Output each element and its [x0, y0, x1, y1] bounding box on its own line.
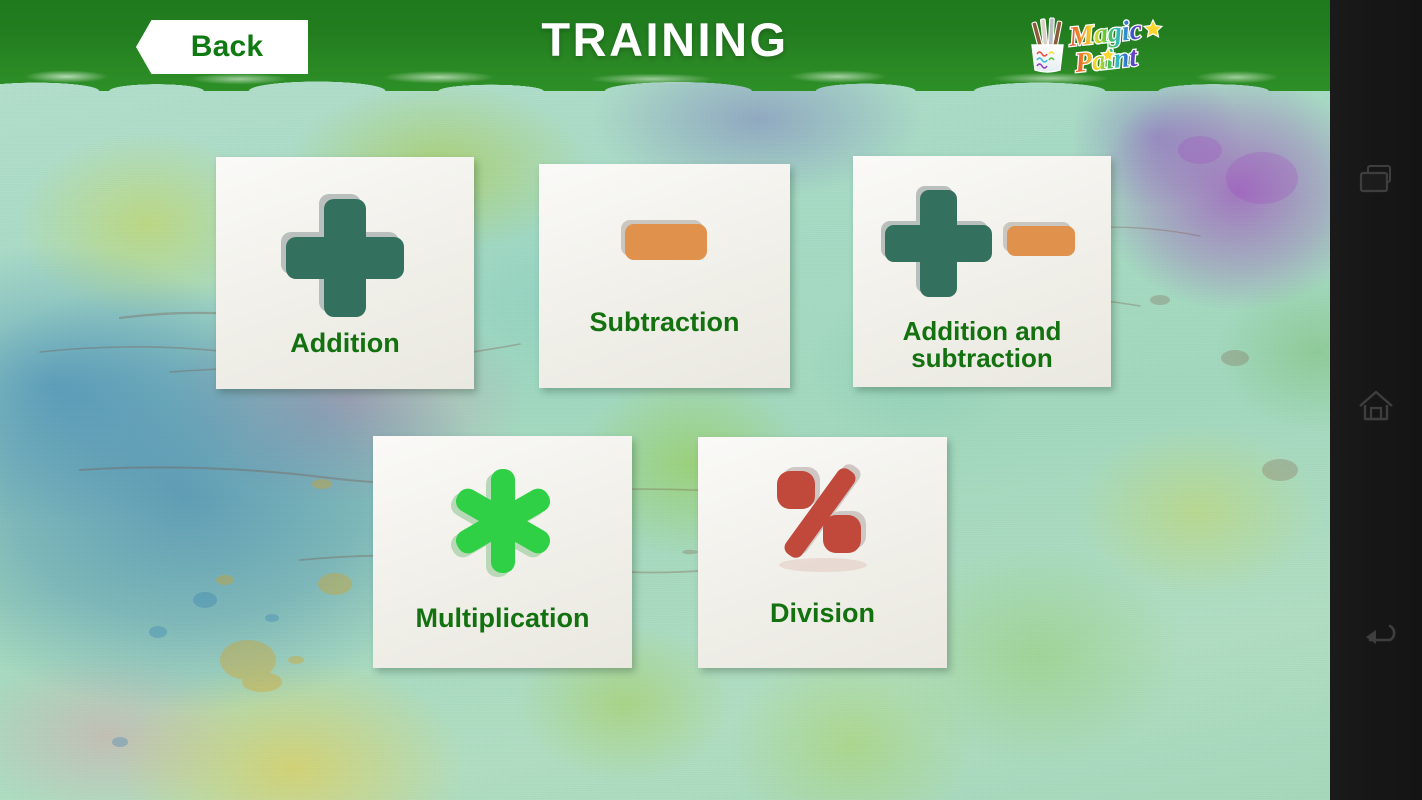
home-icon [1356, 386, 1396, 426]
card-addition-and-subtraction[interactable]: Addition and subtraction [853, 156, 1111, 387]
app-viewport: Back TRAINING [0, 0, 1330, 800]
plus-minus-icon [884, 182, 1080, 302]
card-division-label: Division [770, 599, 875, 627]
card-division[interactable]: Division [698, 437, 947, 668]
back-button-label: Back [181, 30, 264, 64]
app-header: Back TRAINING [0, 0, 1330, 93]
card-multiplication-label: Multiplication [416, 604, 590, 632]
plus-icon [282, 185, 408, 311]
card-subtraction[interactable]: Subtraction [539, 164, 790, 388]
card-addition-and-subtraction-label: Addition and subtraction [903, 318, 1062, 373]
nav-back-button[interactable] [1330, 593, 1422, 671]
magic-paint-logo: Magic Paint [1022, 12, 1178, 84]
nav-recents-button[interactable] [1330, 139, 1422, 217]
android-navigation-bar [1330, 0, 1422, 800]
recents-icon [1356, 158, 1396, 198]
card-addition-label: Addition [290, 329, 399, 357]
minus-glyph [1003, 222, 1075, 256]
minus-icon [619, 216, 711, 266]
label-line-1: Addition and [903, 316, 1062, 346]
paintbrush-cup-icon [1032, 18, 1063, 72]
card-addition[interactable]: Addition [216, 157, 474, 389]
card-multiplication[interactable]: Multiplication [373, 436, 632, 668]
back-button[interactable]: Back [136, 20, 308, 74]
card-subtraction-label: Subtraction [589, 308, 739, 336]
label-line-2: subtraction [911, 343, 1053, 373]
percent-icon [761, 459, 885, 577]
paint-streaks [0, 0, 1330, 800]
asterisk-icon [444, 466, 562, 584]
nav-home-button[interactable] [1330, 367, 1422, 445]
plus-glyph [881, 186, 992, 297]
back-arrow-icon [1356, 612, 1396, 652]
